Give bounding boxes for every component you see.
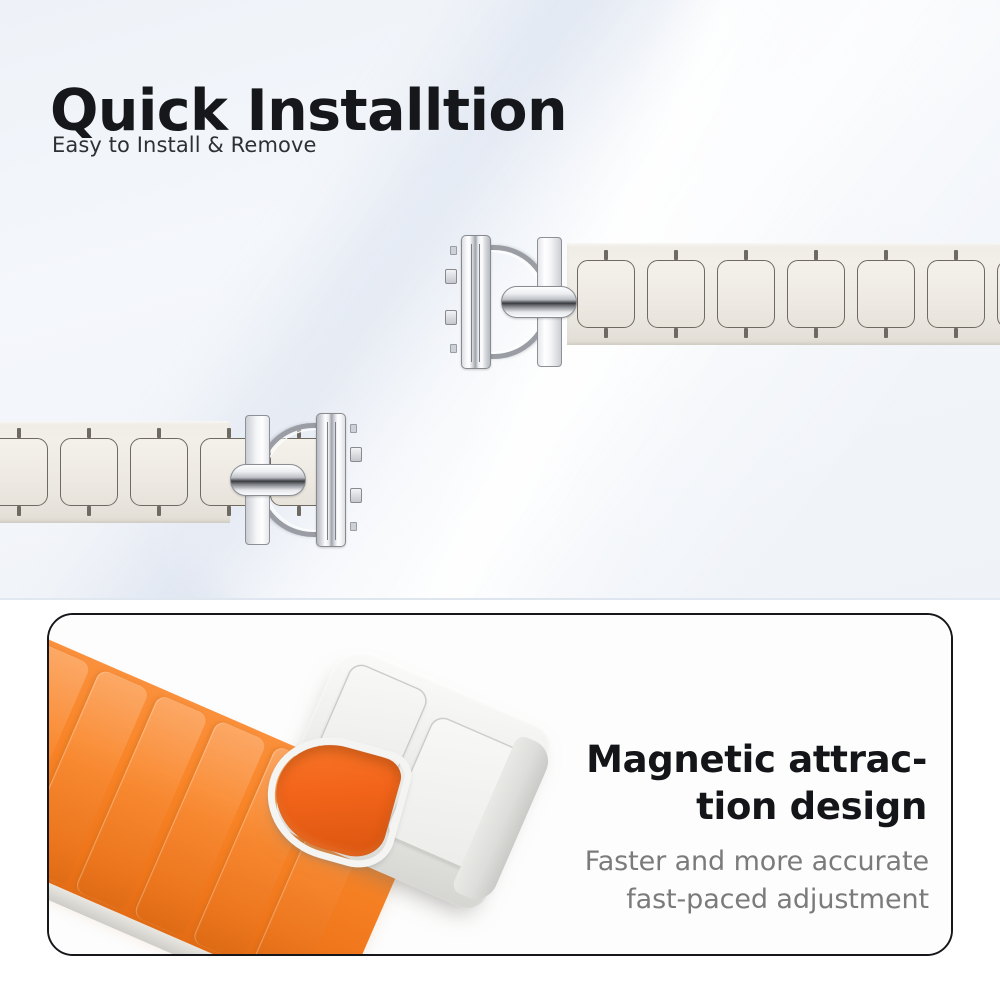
- feature-photo-card: Magnetic attrac- tion design Faster and …: [47, 613, 953, 956]
- clasp-tab-small: [450, 344, 457, 353]
- feature-heading: Magnetic attrac- tion design: [586, 736, 927, 831]
- band-body-lower: [0, 421, 230, 523]
- feature-subtext: Faster and more accurate fast-paced adju…: [585, 843, 929, 920]
- feature-subtext-line-2: fast-paced adjustment: [585, 881, 929, 919]
- band-body-upper: [567, 243, 1000, 345]
- clasp-plate-groove: [335, 422, 336, 540]
- clasp-tab: [445, 269, 457, 284]
- clasp-pin-bar: [230, 464, 306, 496]
- magnetic-clasp-lower: [240, 410, 352, 550]
- product-feature-page: Quick Installtion Easy to Install & Remo…: [0, 0, 1000, 1000]
- section-divider: [0, 598, 1000, 600]
- band-segment: [927, 260, 985, 328]
- magnetic-clasp-upper: [455, 232, 567, 372]
- clasp-tab: [350, 447, 362, 462]
- band-segment: [0, 438, 48, 506]
- band-segment: [130, 438, 188, 506]
- watch-band-upper: [455, 232, 1000, 372]
- band-segment: [60, 438, 118, 506]
- clasp-plate: [316, 413, 346, 547]
- top-illustration-section: Quick Installtion Easy to Install & Remo…: [0, 0, 1000, 600]
- clasp-tab-small: [350, 522, 357, 531]
- clasp-tab-small: [450, 246, 457, 255]
- band-segment: [647, 260, 705, 328]
- feature-heading-line-2: tion design: [586, 783, 927, 830]
- clasp-plate-groove: [471, 244, 472, 362]
- clasp-tab: [350, 488, 362, 503]
- band-segment: [787, 260, 845, 328]
- feature-subtext-line-1: Faster and more accurate: [585, 843, 929, 881]
- band-segment: [857, 260, 915, 328]
- clasp-pin-bar: [501, 286, 577, 318]
- feature-heading-line-1: Magnetic attrac-: [586, 736, 927, 783]
- clasp-tab-small: [350, 424, 357, 433]
- clasp-plate-groove: [327, 422, 328, 540]
- band-segment: [717, 260, 775, 328]
- product-photo: Magnetic attrac- tion design Faster and …: [49, 615, 951, 954]
- band-segment: [577, 260, 635, 328]
- clasp-plate: [461, 235, 491, 369]
- clasp-tab: [445, 310, 457, 325]
- clasp-plate-groove: [479, 244, 480, 362]
- watch-band-lower: [0, 410, 380, 550]
- page-subtitle: Easy to Install & Remove: [52, 133, 317, 157]
